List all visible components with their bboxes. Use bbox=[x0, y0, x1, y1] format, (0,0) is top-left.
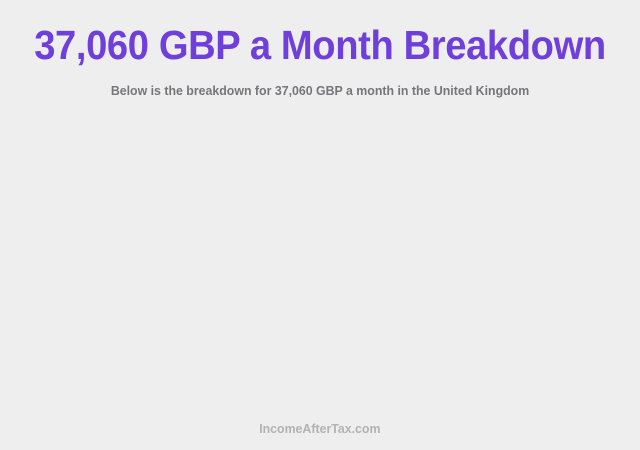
page-title: 37,060 GBP a Month Breakdown bbox=[22, 22, 617, 68]
footer: IncomeAfterTax.com bbox=[0, 420, 640, 438]
chart-placeholder bbox=[0, 122, 640, 412]
page-subtitle: Below is the breakdown for 37,060 GBP a … bbox=[16, 68, 624, 99]
footer-brand-label: IncomeAfterTax.com bbox=[259, 421, 380, 437]
infographic-page: 37,060 GBP a Month Breakdown Below is th… bbox=[0, 0, 640, 450]
header: 37,060 GBP a Month Breakdown Below is th… bbox=[0, 0, 640, 99]
chart-area bbox=[0, 122, 640, 412]
